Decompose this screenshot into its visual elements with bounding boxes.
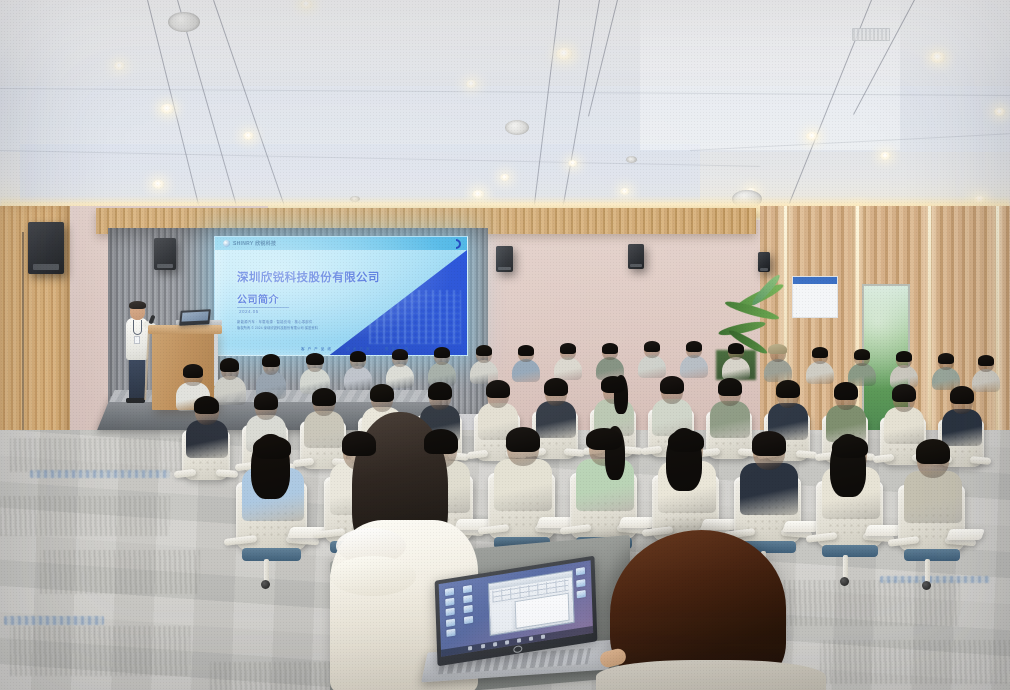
audience-member: [478, 382, 518, 434]
audience-member-torso: [806, 361, 834, 384]
window-sidebar[interactable]: [492, 601, 513, 632]
foreground-attendee-shoulder: [596, 660, 826, 690]
audience-member-hair: [560, 343, 577, 354]
audience-member: [764, 346, 792, 378]
chair-writing-tablet[interactable]: [700, 519, 739, 530]
audience-member: [848, 350, 876, 382]
audience-member: [740, 434, 798, 506]
audience-member-hair: [728, 343, 745, 354]
audience-member-torso: [494, 459, 552, 511]
audience-member-torso: [740, 463, 798, 515]
audience-member-torso: [186, 420, 228, 459]
chair-writing-tablet[interactable]: [782, 521, 821, 532]
audience-member: [596, 344, 624, 376]
audience-member-torso: [884, 407, 924, 444]
audience-member-hair: [312, 388, 336, 406]
audience-member-torso: [386, 364, 414, 388]
audience-member-hair: [854, 349, 871, 360]
audience-member: [658, 432, 716, 504]
audience-member: [638, 342, 666, 374]
audience-member-hair: [476, 345, 493, 357]
audience-member-hair: [718, 378, 742, 396]
audience-member: [768, 382, 808, 434]
chair-seat-cushion[interactable]: [822, 545, 878, 557]
audience-member: [214, 360, 246, 400]
audience-member-torso: [512, 359, 540, 382]
audience-member-hair-top: [601, 376, 625, 392]
podium-laptop: [179, 309, 211, 326]
audience-member: [826, 384, 866, 436]
chair-writing-tablet[interactable]: [864, 525, 903, 536]
audience-member: [470, 346, 498, 380]
audience-member: [256, 356, 286, 394]
chair-seat-cushion[interactable]: [242, 548, 302, 560]
audience-member: [536, 380, 576, 432]
audience-member: [300, 354, 330, 390]
audience-member-hair: [644, 341, 661, 352]
audience-member: [806, 348, 834, 380]
laptop-brand-logo: [513, 645, 522, 653]
audience-member: [972, 356, 1000, 388]
audience-member: [932, 354, 960, 386]
chair-seat-cushion[interactable]: [904, 549, 960, 561]
audience-member: [576, 430, 634, 502]
audience-member-hair: [892, 384, 916, 402]
audience-member-hair-top: [668, 430, 703, 452]
audience-member-hair: [916, 439, 950, 463]
chair-leg: [843, 555, 848, 578]
audience-member-torso: [722, 357, 750, 380]
audience-member: [242, 438, 304, 512]
audience-member: [652, 378, 692, 430]
audience-member-hair: [660, 376, 684, 394]
audience-member-hair: [350, 351, 367, 363]
audience-member-hair-top: [586, 428, 621, 450]
chair-caster: [840, 577, 849, 586]
audience-member-torso: [710, 401, 750, 438]
presenter-hair: [129, 301, 146, 309]
audience-member: [710, 380, 750, 432]
audience-member-hair: [518, 345, 535, 356]
audience-member: [822, 438, 880, 510]
audience-member: [594, 378, 634, 430]
audience-member-hair: [262, 354, 280, 367]
chair-writing-tablet[interactable]: [618, 517, 657, 528]
audience-member-hair: [424, 429, 458, 453]
audience-member-torso: [942, 409, 982, 446]
audience-member-hair: [544, 378, 568, 396]
audience-member-hair: [602, 343, 619, 354]
audience-member-hair: [486, 380, 510, 398]
audience-member-hair: [370, 384, 394, 402]
audience-member-hair: [428, 382, 452, 400]
audience-member-hair-top: [253, 436, 290, 459]
audience-member: [186, 398, 228, 452]
audience-member: [722, 344, 750, 376]
chair-leg: [925, 559, 930, 582]
audience-member-hair: [254, 392, 278, 410]
audience-member-torso: [764, 359, 792, 382]
audience-member: [680, 342, 708, 374]
audience-member: [554, 344, 582, 376]
chair-caster: [922, 581, 931, 590]
audience-member-hair: [506, 427, 540, 451]
audience-member-hair: [183, 364, 203, 378]
audience-member: [428, 348, 456, 382]
audience-member: [890, 352, 918, 384]
audience-member-hair: [342, 431, 376, 455]
audience-member-torso: [638, 355, 666, 378]
podium-laptop-screen: [182, 311, 209, 321]
audience-member-hair: [950, 386, 974, 404]
audience-member: [904, 442, 962, 514]
audience-member-hair: [812, 347, 829, 358]
audience-member-hair: [938, 353, 955, 364]
audience-member-hair: [776, 380, 800, 398]
audience-member: [386, 350, 414, 384]
chair-writing-tablet[interactable]: [946, 529, 985, 540]
conference-room-photo: SHINRY 欣锐科技 深圳欣锐科技股份有限公司 公司简介 2024.05 新能…: [0, 0, 1010, 690]
audience-member: [494, 430, 552, 502]
audience-member-hair: [686, 341, 703, 352]
audience-member: [344, 352, 372, 386]
audience-member-hair: [392, 349, 409, 361]
audience-member-hair: [194, 396, 219, 414]
audience-member-torso: [554, 357, 582, 380]
audience-member-hair: [978, 355, 995, 366]
audience-member-baseball-cap: [768, 344, 787, 355]
spreadsheet-window[interactable]: [488, 570, 575, 636]
audience-member-hair-top: [832, 436, 867, 458]
audience-member-torso: [904, 471, 962, 523]
audience-member: [942, 388, 982, 440]
audience-member-torso: [680, 355, 708, 378]
chair-leg: [264, 559, 269, 582]
audience-member-hair: [896, 351, 913, 362]
audience-member-hair: [834, 382, 858, 400]
audience-member-hair: [220, 358, 239, 372]
blouse-ruffle-lower: [330, 556, 416, 596]
audience-member-hair: [752, 431, 786, 455]
audience-member-hair: [306, 353, 324, 365]
chair-caster: [261, 580, 270, 589]
audience-member: [512, 346, 540, 378]
audience-member-hair: [434, 347, 451, 359]
audience-member: [884, 386, 924, 438]
